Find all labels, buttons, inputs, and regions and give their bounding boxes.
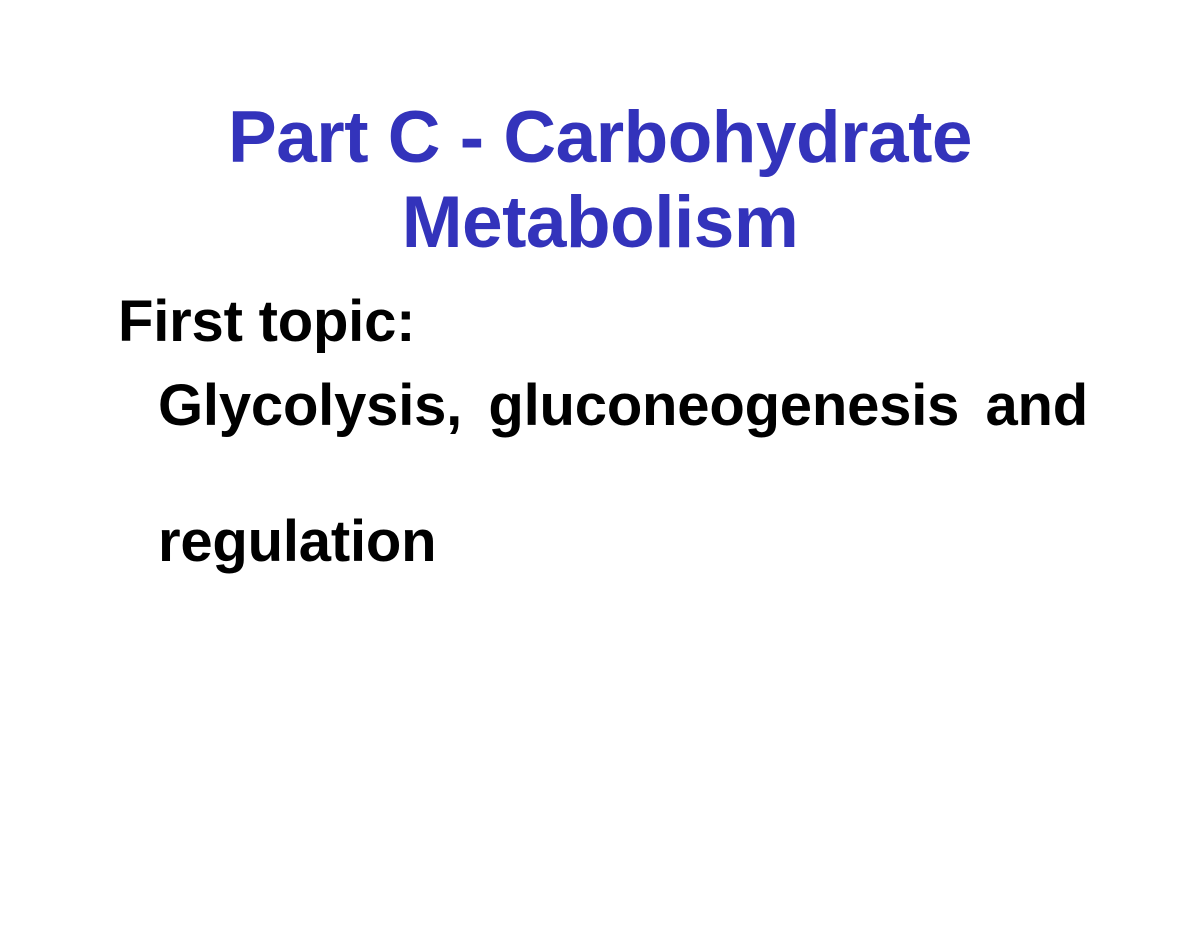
slide-title: Part C - Carbohydrate Metabolism: [0, 95, 1200, 265]
body-topic-line-2: regulation: [158, 508, 1088, 576]
body-topic-text: Glycolysis, gluconeogenesis and regulati…: [158, 372, 1088, 576]
body-topic-line-1: Glycolysis, gluconeogenesis and: [158, 372, 1088, 508]
slide-canvas: Part C - Carbohydrate Metabolism First t…: [0, 0, 1200, 927]
slide-body: First topic: Glycolysis, gluconeogenesis…: [118, 286, 1108, 576]
slide-title-line-1: Part C - Carbohydrate: [0, 95, 1200, 180]
slide-title-line-2: Metabolism: [0, 180, 1200, 265]
body-lead-text: First topic:: [118, 286, 1108, 358]
